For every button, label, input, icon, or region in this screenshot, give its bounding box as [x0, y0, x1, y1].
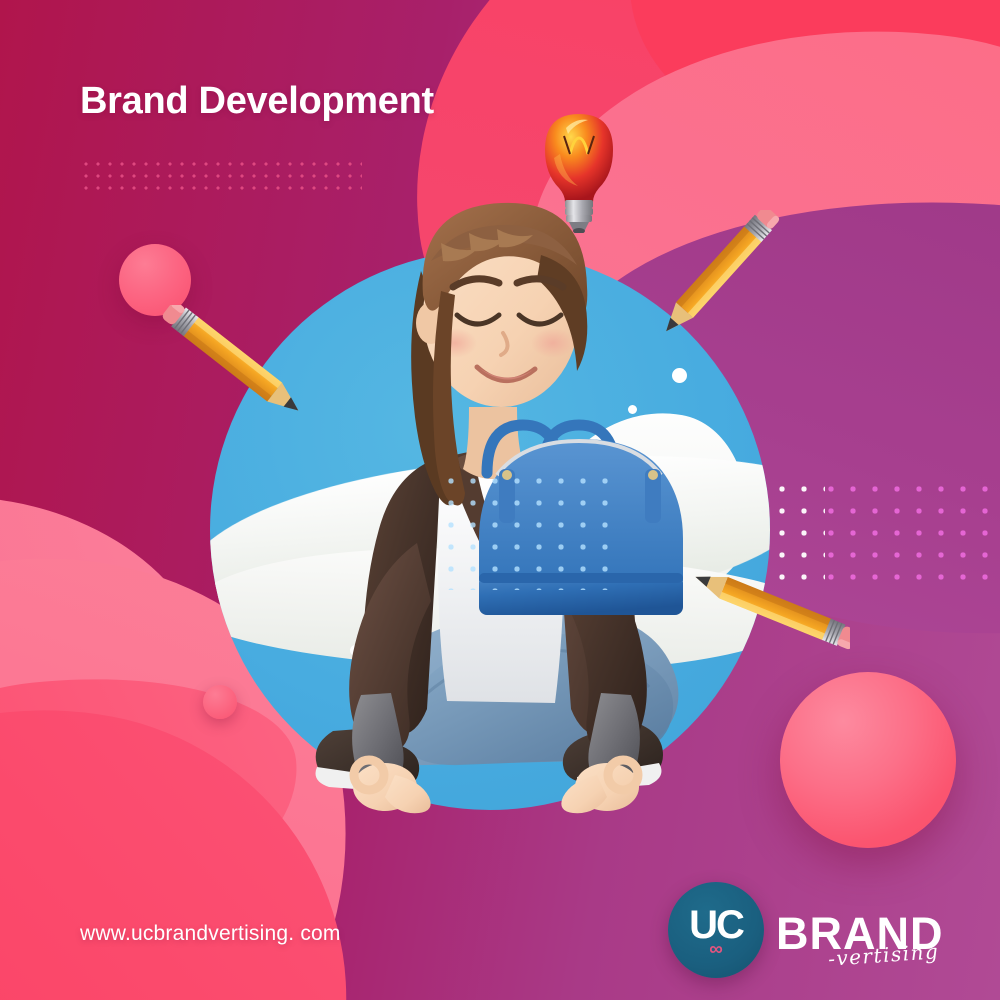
infinity-icon: ∞ [709, 940, 723, 959]
website-url[interactable]: www.ucbrandvertising. com [80, 922, 341, 946]
pencil-icon-left [160, 305, 320, 425]
poster-canvas: Brand Development www.ucbrandvertising. … [0, 0, 1000, 1000]
sphere-decoration-large [780, 672, 956, 848]
logo-mark-circle: UC ∞ [668, 882, 764, 978]
brand-logo[interactable]: UC ∞ BRAND -vertising [668, 880, 958, 980]
pencil-icon-top-right [640, 210, 790, 345]
lightbulb-icon [534, 108, 624, 233]
logo-wordmark: BRAND -vertising [776, 905, 944, 956]
page-title: Brand Development [80, 80, 434, 123]
pencil-icon-bottom-right [680, 550, 850, 660]
